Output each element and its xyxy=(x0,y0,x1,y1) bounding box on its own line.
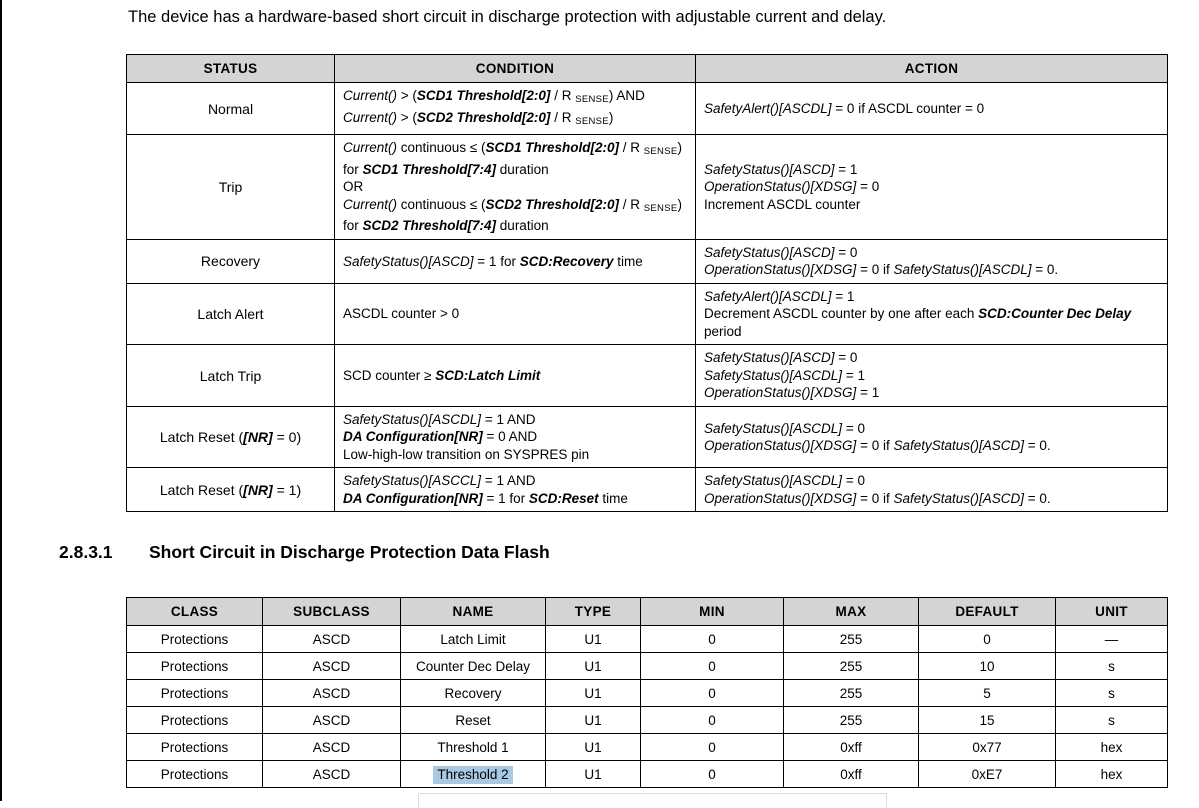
table-row: Latch Reset ([NR] = 1)SafetyStatus()[ASC… xyxy=(127,468,1168,512)
cell-subclass: ASCD xyxy=(263,734,401,761)
cell-type: U1 xyxy=(546,680,641,707)
cell-min: 0 xyxy=(641,653,784,680)
cell-default: 10 xyxy=(919,653,1056,680)
cell-min: 0 xyxy=(641,734,784,761)
cell-name[interactable]: Latch Limit xyxy=(401,626,546,653)
cell-subclass: ASCD xyxy=(263,680,401,707)
cell-action: SafetyStatus()[ASCD] = 0OperationStatus(… xyxy=(696,239,1168,283)
cell-class: Protections xyxy=(127,626,263,653)
section-number: 2.8.3.1 xyxy=(59,542,149,563)
cell-unit: s xyxy=(1056,653,1168,680)
cell-action: SafetyAlert()[ASCDL] = 1Decrement ASCDL … xyxy=(696,283,1168,345)
cell-action: SafetyStatus()[ASCD] = 1OperationStatus(… xyxy=(696,135,1168,240)
cell-type: U1 xyxy=(546,707,641,734)
cell-default: 5 xyxy=(919,680,1056,707)
scd-status-condition-action-table: STATUS CONDITION ACTION NormalCurrent() … xyxy=(126,54,1168,512)
table-row: Latch TripSCD counter ≥ SCD:Latch LimitS… xyxy=(127,345,1168,407)
cell-subclass: ASCD xyxy=(263,761,401,788)
cell-class: Protections xyxy=(127,761,263,788)
column-header-status: STATUS xyxy=(127,55,335,83)
page-left-edge xyxy=(0,0,2,801)
section-title: Short Circuit in Discharge Protection Da… xyxy=(149,542,550,562)
cell-default: 0x77 xyxy=(919,734,1056,761)
table-row: ProtectionsASCDCounter Dec DelayU1025510… xyxy=(127,653,1168,680)
cell-subclass: ASCD xyxy=(263,653,401,680)
cell-status: Normal xyxy=(127,83,335,135)
selected-text-highlight[interactable]: Threshold 2 xyxy=(433,766,512,784)
cell-max: 255 xyxy=(784,653,919,680)
column-header-min: MIN xyxy=(641,598,784,626)
column-header-name: NAME xyxy=(401,598,546,626)
cell-unit: s xyxy=(1056,707,1168,734)
intro-paragraph: The device has a hardware-based short ci… xyxy=(128,6,1158,28)
cell-unit: s xyxy=(1056,680,1168,707)
table-row: ProtectionsASCDThreshold 2U100xff0xE7hex xyxy=(127,761,1168,788)
table-row: ProtectionsASCDRecoveryU102555s xyxy=(127,680,1168,707)
table-row: RecoverySafetyStatus()[ASCD] = 1 for SCD… xyxy=(127,239,1168,283)
cell-type: U1 xyxy=(546,653,641,680)
cell-condition: ASCDL counter > 0 xyxy=(335,283,696,345)
cell-name[interactable]: Threshold 2 xyxy=(401,761,546,788)
cell-condition: SafetyStatus()[ASCCL] = 1 ANDDA Configur… xyxy=(335,468,696,512)
cell-status: Latch Reset ([NR] = 1) xyxy=(127,468,335,512)
cell-status: Latch Trip xyxy=(127,345,335,407)
cell-action: SafetyStatus()[ASCDL] = 0OperationStatus… xyxy=(696,406,1168,468)
cell-condition: SCD counter ≥ SCD:Latch Limit xyxy=(335,345,696,407)
cell-max: 0xff xyxy=(784,761,919,788)
column-header-subclass: SUBCLASS xyxy=(263,598,401,626)
table-row: Latch Reset ([NR] = 0)SafetyStatus()[ASC… xyxy=(127,406,1168,468)
cell-default: 15 xyxy=(919,707,1056,734)
cell-name[interactable]: Counter Dec Delay xyxy=(401,653,546,680)
cell-max: 0xff xyxy=(784,734,919,761)
table-header-row: STATUS CONDITION ACTION xyxy=(127,55,1168,83)
table-row: NormalCurrent() > (SCD1 Threshold[2:0] /… xyxy=(127,83,1168,135)
cell-class: Protections xyxy=(127,734,263,761)
cell-class: Protections xyxy=(127,707,263,734)
cell-min: 0 xyxy=(641,761,784,788)
cell-action: SafetyStatus()[ASCD] = 0SafetyStatus()[A… xyxy=(696,345,1168,407)
cell-min: 0 xyxy=(641,626,784,653)
table-row: ProtectionsASCDThreshold 1U100xff0x77hex xyxy=(127,734,1168,761)
cell-unit: — xyxy=(1056,626,1168,653)
cell-condition: SafetyStatus()[ASCDL] = 1 ANDDA Configur… xyxy=(335,406,696,468)
table-header-row: CLASS SUBCLASS NAME TYPE MIN MAX DEFAULT… xyxy=(127,598,1168,626)
data-flash-parameters-table: CLASS SUBCLASS NAME TYPE MIN MAX DEFAULT… xyxy=(126,597,1168,788)
cell-type: U1 xyxy=(546,626,641,653)
cell-class: Protections xyxy=(127,653,263,680)
cell-min: 0 xyxy=(641,680,784,707)
cell-status: Latch Alert xyxy=(127,283,335,345)
cell-type: U1 xyxy=(546,761,641,788)
column-header-max: MAX xyxy=(784,598,919,626)
cell-class: Protections xyxy=(127,680,263,707)
cell-subclass: ASCD xyxy=(263,626,401,653)
cell-action: SafetyAlert()[ASCDL] = 0 if ASCDL counte… xyxy=(696,83,1168,135)
cell-max: 255 xyxy=(784,626,919,653)
cell-min: 0 xyxy=(641,707,784,734)
table-row: ProtectionsASCDLatch LimitU102550— xyxy=(127,626,1168,653)
cell-default: 0xE7 xyxy=(919,761,1056,788)
cell-status: Latch Reset ([NR] = 0) xyxy=(127,406,335,468)
column-header-condition: CONDITION xyxy=(335,55,696,83)
column-header-default: DEFAULT xyxy=(919,598,1056,626)
column-header-type: TYPE xyxy=(546,598,641,626)
cell-max: 255 xyxy=(784,680,919,707)
cell-condition: Current() continuous ≤ (SCD1 Threshold[2… xyxy=(335,135,696,240)
page-section-heading: 2.8.3.1Short Circuit in Discharge Protec… xyxy=(59,542,550,563)
cell-action: SafetyStatus()[ASCDL] = 0OperationStatus… xyxy=(696,468,1168,512)
column-header-class: CLASS xyxy=(127,598,263,626)
cell-unit: hex xyxy=(1056,761,1168,788)
cell-condition: Current() > (SCD1 Threshold[2:0] / R SEN… xyxy=(335,83,696,135)
column-header-unit: UNIT xyxy=(1056,598,1168,626)
cell-name[interactable]: Threshold 1 xyxy=(401,734,546,761)
cell-name[interactable]: Recovery xyxy=(401,680,546,707)
cell-default: 0 xyxy=(919,626,1056,653)
column-header-action: ACTION xyxy=(696,55,1168,83)
cell-subclass: ASCD xyxy=(263,707,401,734)
cell-max: 255 xyxy=(784,707,919,734)
cell-unit: hex xyxy=(1056,734,1168,761)
cell-type: U1 xyxy=(546,734,641,761)
table-row: TripCurrent() continuous ≤ (SCD1 Thresho… xyxy=(127,135,1168,240)
cell-status: Trip xyxy=(127,135,335,240)
cell-name[interactable]: Reset xyxy=(401,707,546,734)
cell-status: Recovery xyxy=(127,239,335,283)
table-row: ProtectionsASCDResetU1025515s xyxy=(127,707,1168,734)
cell-condition: SafetyStatus()[ASCD] = 1 for SCD:Recover… xyxy=(335,239,696,283)
table-row: Latch AlertASCDL counter > 0SafetyAlert(… xyxy=(127,283,1168,345)
